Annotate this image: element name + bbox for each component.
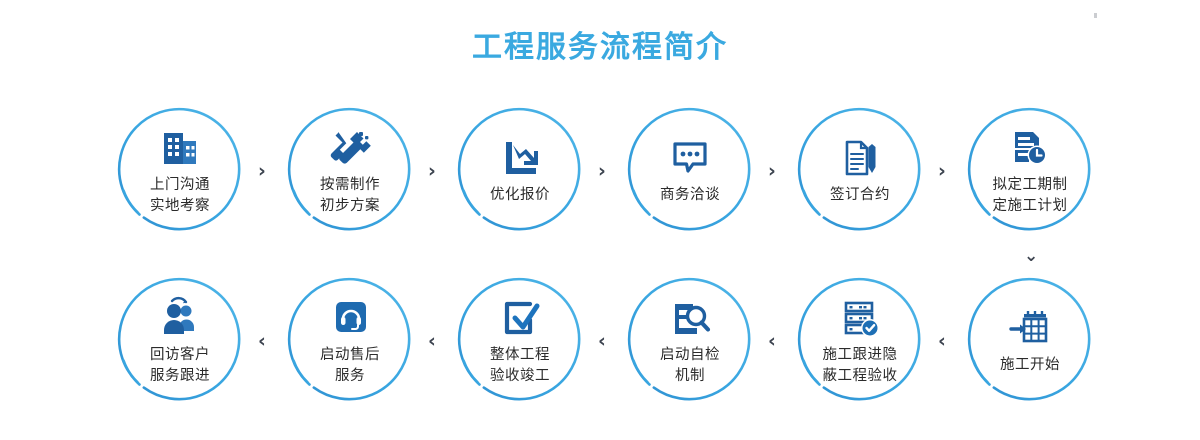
step-node-8[interactable]: 施工跟进隐 蔽工程验收 [792, 272, 928, 408]
contract-pen-icon [837, 134, 883, 180]
headset-support-icon [327, 294, 373, 340]
step-label-2: 按需制作 初步方案 [320, 175, 380, 217]
step-label-12: 回访客户 服务跟进 [150, 345, 210, 387]
step-label-10: 整体工程 验收竣工 [490, 345, 550, 387]
step-node-9[interactable]: 启动自检 机制 [622, 272, 758, 408]
flow-arrow-5: › [938, 162, 946, 181]
building-icon [157, 124, 203, 170]
step-node-7[interactable]: 施工开始 [962, 272, 1098, 408]
flow-arrow-3: › [598, 162, 606, 181]
flow-arrow-7: ‹ [938, 332, 946, 351]
flow-arrow-2: › [428, 162, 436, 181]
calendar-start-icon [1007, 304, 1053, 350]
step-node-2[interactable]: 按需制作 初步方案 [282, 102, 418, 238]
flow-diagram-canvas: 工程服务流程简介 [0, 0, 1200, 440]
step-node-11[interactable]: 启动售后 服务 [282, 272, 418, 408]
step-label-5: 签订合约 [830, 185, 890, 206]
step-label-4: 商务洽谈 [660, 185, 720, 206]
checkbox-check-icon [497, 294, 543, 340]
step-node-5[interactable]: 签订合约 [792, 102, 928, 238]
step-node-12[interactable]: 回访客户 服务跟进 [112, 272, 248, 408]
step-label-1: 上门沟通 实地考察 [150, 175, 210, 217]
flow-arrow-11: ‹ [258, 332, 266, 351]
flow-arrow-10: ‹ [428, 332, 436, 351]
step-node-4[interactable]: 商务洽谈 [622, 102, 758, 238]
flow-arrow-9: ‹ [598, 332, 606, 351]
flow-arrow-1: › [258, 162, 266, 181]
stray-artifact-mark [1094, 13, 1097, 18]
flow-arrow-8: ‹ [768, 332, 776, 351]
step-node-1[interactable]: 上门沟通 实地考察 [112, 102, 248, 238]
step-label-3: 优化报价 [490, 185, 550, 206]
flow-arrow-row-connector: ⌄ [1024, 248, 1038, 265]
step-node-6[interactable]: 拟定工期制 定施工计划 [962, 102, 1098, 238]
step-label-7: 施工开始 [1000, 355, 1060, 376]
step-label-8: 施工跟进隐 蔽工程验收 [823, 345, 898, 387]
document-clock-icon [1007, 124, 1053, 170]
step-label-11: 启动售后 服务 [320, 345, 380, 387]
step-node-10[interactable]: 整体工程 验收竣工 [452, 272, 588, 408]
chart-down-icon [497, 134, 543, 180]
flow-arrow-4: › [768, 162, 776, 181]
document-search-icon [667, 294, 713, 340]
server-check-icon [837, 294, 883, 340]
speech-bubble-icon [667, 134, 713, 180]
step-node-3[interactable]: 优化报价 [452, 102, 588, 238]
tools-wrench-icon [327, 124, 373, 170]
page-title: 工程服务流程简介 [0, 22, 1200, 66]
step-label-9: 启动自检 机制 [660, 345, 720, 387]
customers-followup-icon [157, 294, 203, 340]
step-label-6: 拟定工期制 定施工计划 [993, 175, 1068, 217]
